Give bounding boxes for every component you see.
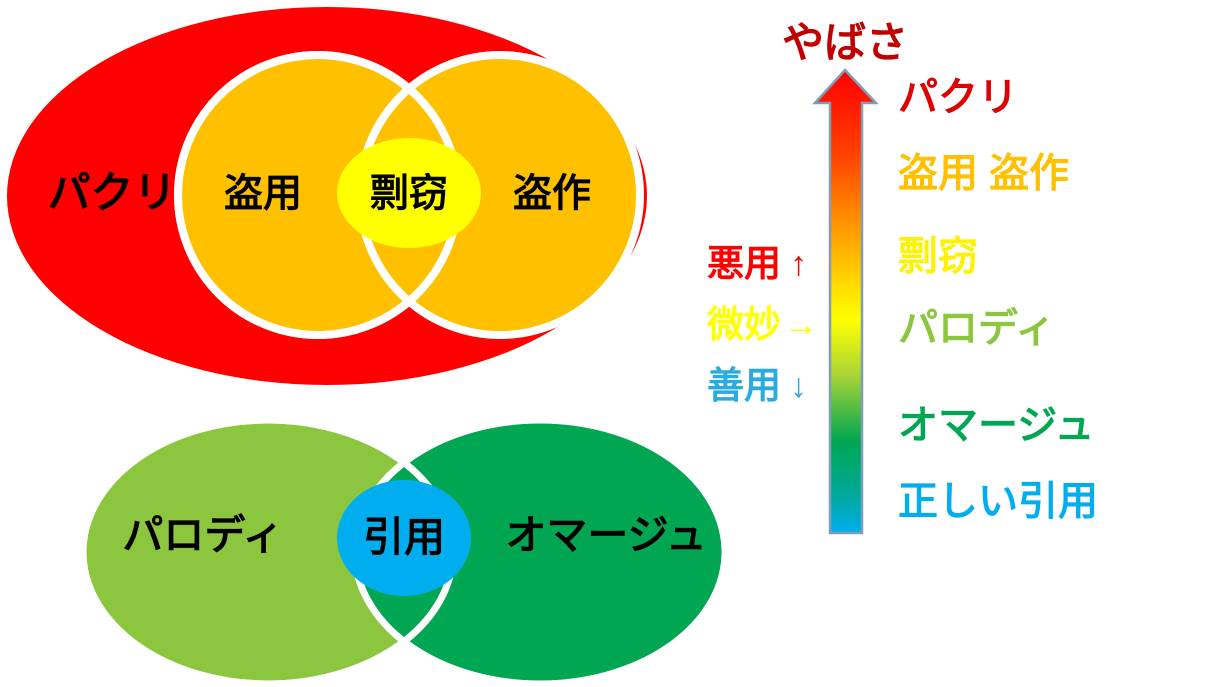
legend-item-correct-citation: 正しい引用 bbox=[898, 480, 1098, 524]
homage-label: オマージュ bbox=[505, 512, 706, 558]
legend-item-touyou-tousaku: 盗用 盗作 bbox=[898, 152, 1069, 196]
homage-venn-group: パロディ 引用 オマージュ bbox=[83, 420, 725, 684]
parody-label: パロディ bbox=[122, 512, 283, 558]
side-marker-label-0: 悪用 bbox=[707, 243, 781, 284]
legend-item-homage: オマージュ bbox=[898, 404, 1094, 448]
inyou-label: 引用 bbox=[363, 514, 445, 560]
side-marker-arrow-1: → bbox=[784, 306, 818, 344]
legend-item-pakuri: パクリ bbox=[898, 76, 1018, 120]
severity-scale-group: やばさ 悪用 ↑ 微妙 → 善用 ↓ パクリ 盗用 盗作 剽窃 パロディ オマー… bbox=[706, 19, 1098, 533]
scale-title: やばさ bbox=[782, 19, 908, 66]
pakuri-label: パクリ bbox=[48, 169, 177, 217]
side-marker-label-2: 善用 bbox=[707, 365, 781, 406]
tousaku-label: 盗作 bbox=[513, 172, 591, 215]
side-marker-arrow-0: ↑ bbox=[790, 245, 807, 283]
venn-scale-diagram: パクリ 盗用 剽窃 盗作 パロディ 引用 オマージュ やばさ 悪用 ↑ 微妙 → bbox=[0, 0, 1231, 687]
side-marker-label-1: 微妙 bbox=[706, 304, 781, 345]
touyou-label: 盗用 bbox=[224, 172, 302, 215]
hyousetsu-label: 剽窃 bbox=[370, 172, 448, 215]
diagram-canvas: パクリ 盗用 剽窃 盗作 パロディ 引用 オマージュ やばさ 悪用 ↑ 微妙 → bbox=[0, 0, 1231, 687]
legend-item-parody: パロディ bbox=[898, 306, 1055, 351]
plagiarism-venn-group: パクリ 盗用 剽窃 盗作 bbox=[7, 7, 647, 385]
severity-gradient-arrow bbox=[815, 70, 876, 533]
side-marker-arrow-2: ↓ bbox=[790, 367, 807, 405]
legend-item-hyousetsu: 剽窃 bbox=[898, 235, 978, 279]
